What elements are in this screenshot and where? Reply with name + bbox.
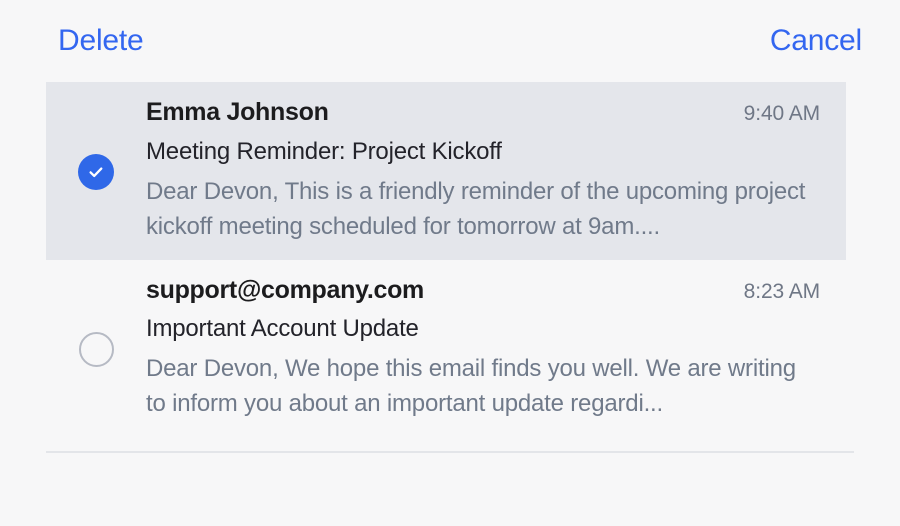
selection-control-cell (46, 96, 146, 244)
email-preview: Dear Devon, We hope this email finds you… (146, 351, 811, 421)
selection-toolbar: Delete Cancel (0, 0, 900, 82)
email-preview: Dear Devon, This is a friendly reminder … (146, 174, 811, 244)
email-header-line: Emma Johnson 9:40 AM (146, 96, 820, 129)
list-divider (46, 451, 854, 453)
email-list: Emma Johnson 9:40 AM Meeting Reminder: P… (0, 82, 900, 453)
checkmark-circle-icon[interactable] (78, 154, 114, 190)
email-content: Emma Johnson 9:40 AM Meeting Reminder: P… (146, 96, 846, 244)
email-list-item[interactable]: support@company.com 8:23 AM Important Ac… (46, 260, 846, 438)
email-timestamp: 9:40 AM (744, 102, 820, 126)
email-sender: Emma Johnson (146, 96, 329, 129)
email-list-item[interactable]: Emma Johnson 9:40 AM Meeting Reminder: P… (46, 82, 846, 260)
empty-circle-icon[interactable] (79, 332, 114, 367)
email-content: support@company.com 8:23 AM Important Ac… (146, 274, 846, 422)
email-header-line: support@company.com 8:23 AM (146, 274, 820, 307)
cancel-button[interactable]: Cancel (770, 26, 862, 56)
delete-button[interactable]: Delete (58, 26, 144, 56)
email-subject: Important Account Update (146, 312, 820, 345)
email-timestamp: 8:23 AM (744, 280, 820, 304)
mail-selection-screen: Delete Cancel Emma Johnson 9:40 AM Meeti… (0, 0, 900, 526)
email-sender: support@company.com (146, 274, 424, 307)
selection-control-cell (46, 274, 146, 422)
email-subject: Meeting Reminder: Project Kickoff (146, 135, 820, 168)
